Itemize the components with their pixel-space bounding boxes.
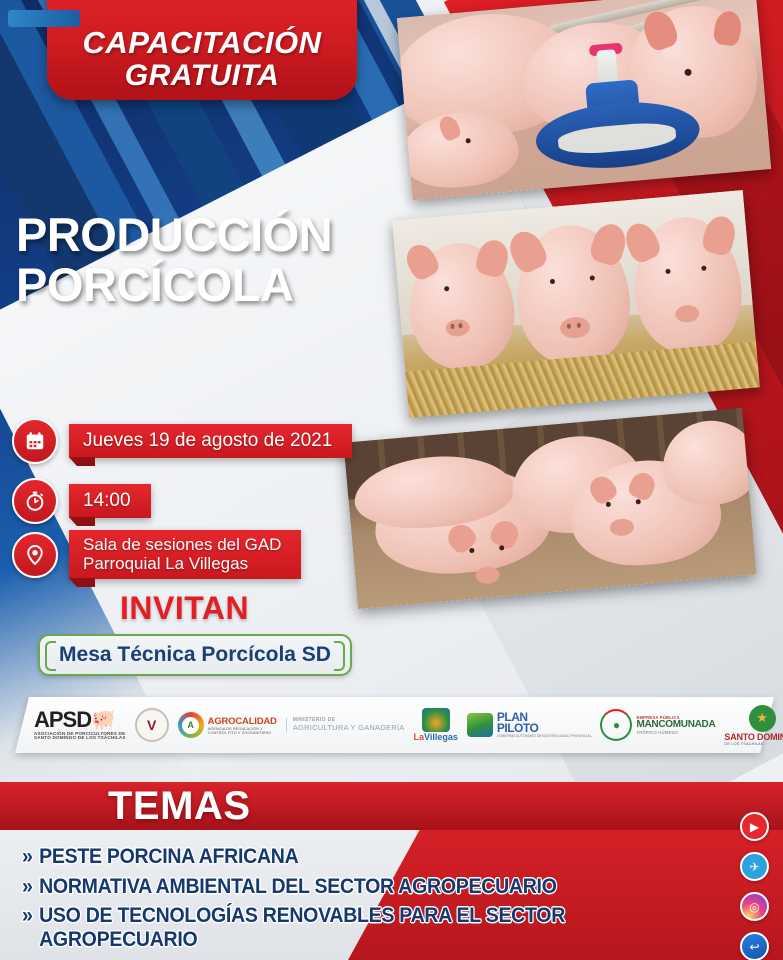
event-place-line1: Sala de sesiones del GAD	[83, 535, 281, 554]
date-ribbon: Jueves 19 de agosto de 2021	[69, 424, 352, 458]
villegas-prefix: La	[414, 732, 425, 742]
photo-pigs-feeder	[397, 0, 772, 200]
photo-pigs-pen	[343, 408, 756, 609]
chevron-double-right-icon: »	[22, 875, 33, 899]
location-pin-icon	[12, 532, 58, 578]
plan-piloto-subtitle: GOBIERNO AUTÓNOMO DESCENTRALIZADO PROVIN…	[497, 734, 592, 738]
temas-item-label: PESTE PORCINA AFRICANA	[39, 845, 298, 869]
mancomunada-icon: ●	[600, 709, 632, 741]
villegas-name: LaVillegas	[414, 732, 458, 742]
title-line1: PRODUCCIÓN	[16, 210, 436, 260]
sponsor-apsd: APSD 🐖 ASOCIACIÓN DE PORCICULTORES DE SA…	[34, 709, 126, 741]
temas-item: » USO DE TECNOLOGÍAS RENOVABLES PARA EL …	[22, 904, 673, 951]
info-row-time: 14:00	[12, 478, 151, 524]
twitter-glyph: ✈	[749, 860, 759, 874]
instagram-icon[interactable]: ◎	[740, 892, 769, 921]
sponsor-santo-domingo: ★ SANTO DOMINGO DE LOS TSÁCHILAS	[724, 705, 783, 746]
event-time: 14:00	[83, 490, 131, 511]
mancomunada-name: MANCOMUNADA	[636, 720, 715, 730]
santo-domingo-icon: ★	[749, 705, 776, 732]
calendar-icon	[12, 418, 58, 464]
sponsor-mancomunada: ● EMPRESA PÚBLICA MANCOMUNADA TRÓPICO HÚ…	[600, 709, 715, 741]
apsd-name: APSD	[34, 709, 91, 731]
chevron-double-right-icon: »	[22, 845, 33, 869]
info-row-date: Jueves 19 de agosto de 2021	[12, 418, 352, 464]
event-date: Jueves 19 de agosto de 2021	[83, 430, 332, 451]
temas-item-label: USO DE TECNOLOGÍAS RENOVABLES PARA EL SE…	[39, 904, 673, 951]
chevron-double-right-icon: »	[22, 904, 33, 928]
place-ribbon: Sala de sesiones del GAD Parroquial La V…	[69, 530, 301, 579]
event-place-line2: Parroquial La Villegas	[83, 554, 248, 573]
santo-domingo-name: SANTO DOMINGO	[724, 732, 783, 742]
plan-piloto-icon	[467, 713, 493, 737]
social-links: ▶ ✈ ◎ ↩	[740, 812, 769, 960]
invitan-heading: INVITAN	[120, 590, 249, 627]
messenger-icon[interactable]: ↩	[740, 932, 769, 960]
youtube-glyph: ▶	[750, 820, 759, 834]
sponsor-colegio-veterinarios: V	[135, 708, 169, 742]
banner-tab-decoration	[8, 10, 80, 27]
sponsor-la-villegas: LaVillegas	[414, 708, 458, 742]
youtube-icon[interactable]: ▶	[740, 812, 769, 841]
poster-root: CAPACITACIÓN GRATUITA PRODUCCIÓN PORCÍCO…	[0, 0, 783, 960]
temas-item-label: NORMATIVA AMBIENTAL DEL SECTOR AGROPECUA…	[39, 875, 557, 899]
agrocalidad-name: AGROCALIDAD	[208, 716, 277, 727]
villegas-suffix: Villegas	[424, 732, 458, 742]
title-line2: PORCÍCOLA	[16, 260, 436, 310]
temas-list: » PESTE PORCINA AFRICANA » NORMATIVA AMB…	[22, 845, 722, 957]
photo-piglets-straw	[392, 190, 760, 418]
info-row-place: Sala de sesiones del GAD Parroquial La V…	[12, 530, 301, 579]
sponsor-logos: APSD 🐖 ASOCIACIÓN DE PORCICULTORES DE SA…	[34, 699, 754, 751]
organizer-name: Mesa Técnica Porcícola SD	[59, 643, 331, 667]
plan-piloto-line2: PILOTO	[497, 723, 592, 734]
mancomunada-subtitle: TRÓPICO HÚMEDO	[636, 730, 715, 735]
apsd-subtitle-line2: SANTO DOMINGO DE LOS TSÁCHILAS	[34, 736, 126, 741]
agrocalidad-subtitle-line2: CONTROL FITO Y ZOOSANITARIO	[208, 731, 277, 735]
instagram-glyph: ◎	[749, 900, 759, 914]
ministerio-line2: AGRICULTURA Y GANADERÍA	[293, 724, 405, 733]
messenger-glyph: ↩	[749, 940, 759, 954]
agrocalidad-icon: A	[178, 712, 204, 738]
time-ribbon: 14:00	[69, 484, 151, 518]
temas-item: » NORMATIVA AMBIENTAL DEL SECTOR AGROPEC…	[22, 875, 673, 899]
banner-line1: CAPACITACIÓN	[82, 27, 321, 60]
temas-item: » PESTE PORCINA AFRICANA	[22, 845, 673, 869]
event-place: Sala de sesiones del GAD Parroquial La V…	[83, 535, 281, 573]
gad-villegas-icon	[422, 708, 450, 732]
sponsor-agrocalidad: A AGROCALIDAD AGENCIA DE REGULACIÓN Y CO…	[178, 712, 277, 738]
organizer-box: Mesa Técnica Porcícola SD	[38, 634, 352, 676]
header-banner: CAPACITACIÓN GRATUITA	[47, 0, 357, 100]
sponsor-ministerio: MINISTERIO DE AGRICULTURA Y GANADERÍA	[286, 718, 405, 732]
pig-icon: 🐖	[91, 710, 116, 730]
sponsor-plan-piloto: PLAN PILOTO GOBIERNO AUTÓNOMO DESCENTRAL…	[467, 712, 592, 739]
ministry-icon: MINISTERIO DE AGRICULTURA Y GANADERÍA	[286, 718, 405, 732]
santo-domingo-subtitle: DE LOS TSÁCHILAS	[724, 742, 783, 746]
banner-line2: GRATUITA	[125, 60, 280, 92]
stopwatch-icon	[12, 478, 58, 524]
temas-heading: TEMAS	[108, 784, 251, 829]
vet-letter: V	[147, 717, 156, 733]
page-title: PRODUCCIÓN PORCÍCOLA	[16, 210, 436, 310]
twitter-icon[interactable]: ✈	[740, 852, 769, 881]
veterinary-shield-icon: V	[135, 708, 169, 742]
